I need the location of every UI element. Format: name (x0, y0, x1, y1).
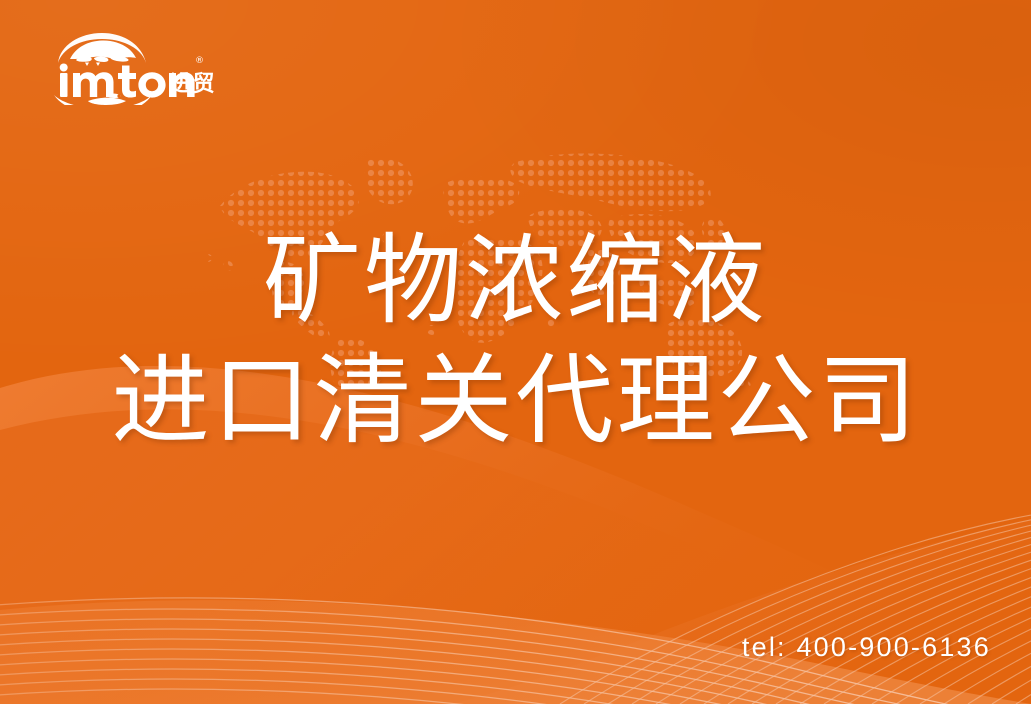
headline-line-2: 进口清关代理公司 (0, 351, 1031, 449)
globe-icon (58, 33, 146, 66)
imton-logo[interactable]: 进贸通 ® (40, 27, 215, 105)
headline: 矿物浓缩液 进口清关代理公司 (0, 231, 1031, 449)
promo-banner: 进贸通 ® 矿物浓缩液 进口清关代理公司 tel: 400-900-6136 (0, 0, 1031, 704)
ship-swoosh-icon (54, 94, 152, 106)
registered-trademark-icon: ® (195, 56, 204, 66)
telephone-label: tel: 400-900-6136 (742, 632, 991, 663)
headline-line-1: 矿物浓缩液 (0, 231, 1031, 329)
logo-chinese-name: 进贸通 (170, 72, 215, 97)
